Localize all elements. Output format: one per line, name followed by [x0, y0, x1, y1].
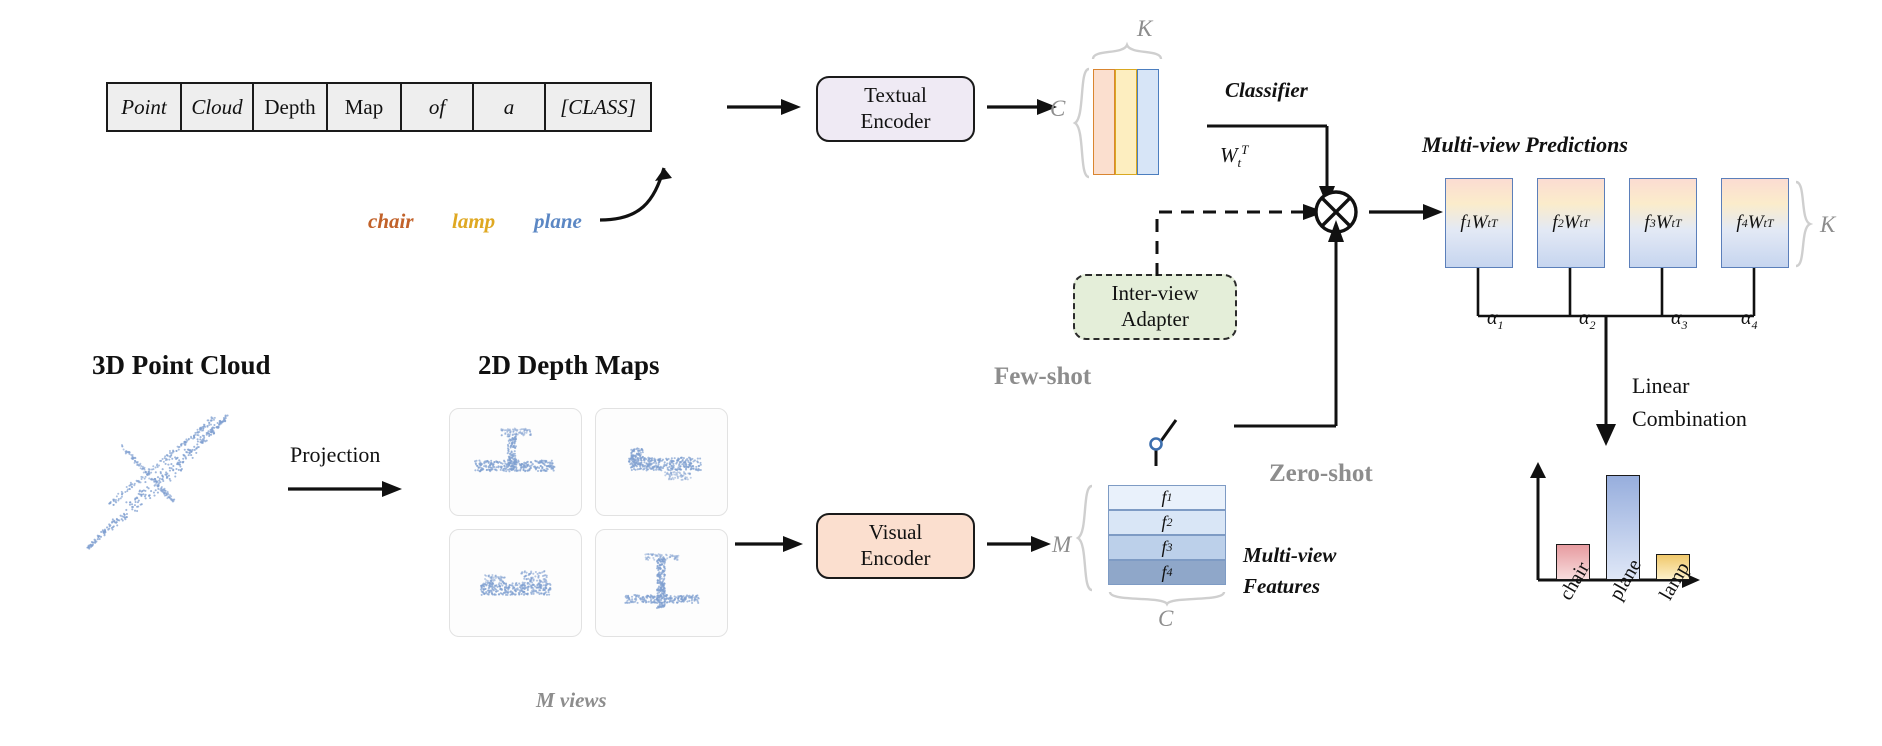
projection-label: Projection: [290, 442, 380, 468]
prompt-token-4: of: [402, 84, 474, 130]
prediction-4-w: W: [1748, 212, 1764, 234]
predictions-title: Multi-view Predictions: [1422, 132, 1628, 158]
depth-map-view-3[interactable]: [449, 529, 582, 637]
visual-encoder-label-line2: Encoder: [861, 546, 931, 572]
few-shot-label: Few-shot: [994, 363, 1091, 391]
prediction-2-wsup: T: [1583, 216, 1590, 231]
features-col-brace: [1108, 590, 1226, 606]
prediction-3-w: W: [1656, 212, 1672, 234]
prompt-token-5: a: [474, 84, 546, 130]
visual-encoder-box[interactable]: Visual Encoder: [816, 513, 975, 579]
features-row-brace: [1076, 484, 1094, 592]
classifier-matrix: [1093, 69, 1159, 175]
views-caption: M views: [536, 688, 607, 713]
feature-row-2: f2: [1108, 510, 1226, 535]
arrow-projection: [288, 478, 404, 500]
alpha-4-sub: 4: [1752, 318, 1758, 332]
class-word-lamp: lamp: [452, 209, 495, 234]
feature-4-sub: 4: [1167, 565, 1173, 580]
prediction-box-3: f3WtT: [1629, 178, 1697, 268]
predictions-dim-label: K: [1820, 212, 1835, 238]
inter-view-adapter-label-line1: Inter-view: [1111, 281, 1198, 307]
alpha-4-base: α: [1741, 307, 1752, 329]
visual-encoder-label-line1: Visual: [869, 520, 923, 546]
feature-row-4: f4: [1108, 560, 1226, 585]
feature-row-3: f3: [1108, 535, 1226, 560]
classifier-col-dim-label: K: [1137, 16, 1152, 42]
prediction-box-2: f2WtT: [1537, 178, 1605, 268]
arrow-product-to-predictions: [1369, 201, 1445, 223]
prediction-4-wsup: T: [1767, 216, 1774, 231]
feature-row-1: f1: [1108, 485, 1226, 510]
prompt-token-1: Cloud: [182, 84, 254, 130]
features-col-dim-label: C: [1158, 606, 1173, 632]
zero-shot-path: [1200, 212, 1340, 432]
arrow-depthmaps-to-visual-encoder: [735, 533, 805, 555]
depth-maps-title: 2D Depth Maps: [478, 350, 660, 381]
prediction-3-wsup: T: [1675, 216, 1682, 231]
features-row-dim-label: M: [1052, 532, 1071, 558]
classifier-row-brace: [1073, 67, 1091, 179]
alpha-label-3: α3: [1671, 307, 1688, 333]
alpha-1-sub: 1: [1498, 318, 1504, 332]
prompt-token-0: Point: [108, 84, 182, 130]
zero-shot-label: Zero-shot: [1269, 460, 1373, 488]
alpha-3-sub: 3: [1682, 318, 1688, 332]
classifier-label: Classifier: [1225, 78, 1308, 103]
classifier-col-brace: [1091, 43, 1163, 61]
depth-map-view-1[interactable]: [449, 408, 582, 516]
prompt-template-table: Point Cloud Depth Map of a [CLASS]: [106, 82, 652, 132]
feature-2-sub: 2: [1167, 515, 1173, 530]
depth-map-grid: [449, 408, 728, 637]
class-word-plane: plane: [534, 209, 582, 234]
alpha-label-1: α1: [1487, 307, 1504, 333]
features-caption-line1: Multi-view: [1243, 543, 1336, 568]
linear-combination-label-line2: Combination: [1632, 406, 1747, 432]
textual-encoder-box[interactable]: Textual Encoder: [816, 76, 975, 142]
alpha-3-base: α: [1671, 307, 1682, 329]
prediction-box-row: f1WtT f2WtT f3WtT f4WtT: [1445, 178, 1789, 268]
feature-1-sub: 1: [1167, 490, 1173, 505]
inter-view-adapter-label-line2: Adapter: [1121, 307, 1189, 333]
classifier-row-dim-label: C: [1050, 96, 1065, 122]
class-word-chair: chair: [368, 209, 414, 234]
prompt-token-3: Map: [328, 84, 402, 130]
prediction-1-w: W: [1472, 212, 1488, 234]
alpha-label-4: α4: [1741, 307, 1758, 333]
textual-encoder-label-line1: Textual: [864, 83, 927, 109]
prediction-box-1: f1WtT: [1445, 178, 1513, 268]
classifier-column-chair: [1093, 69, 1115, 175]
features-caption-line2: Features: [1243, 574, 1320, 599]
multi-view-feature-stack: f1 f2 f3 f4: [1108, 485, 1226, 585]
alpha-1-base: α: [1487, 307, 1498, 329]
point-cloud-visualization: [70, 400, 270, 560]
depth-map-view-4[interactable]: [595, 529, 728, 637]
prediction-1-wsup: T: [1491, 216, 1498, 231]
linear-combination-label-line1: Linear: [1632, 373, 1689, 399]
predictions-dim-brace: [1794, 180, 1812, 268]
depth-map-view-2[interactable]: [595, 408, 728, 516]
arrow-linear-combination: [1594, 316, 1618, 448]
prompt-token-class: [CLASS]: [546, 84, 650, 130]
arrow-visual-encoder-to-features: [987, 533, 1053, 555]
prediction-box-4: f4WtT: [1721, 178, 1789, 268]
classifier-column-plane: [1137, 69, 1159, 175]
branch-switch-icon[interactable]: [1142, 414, 1182, 470]
alpha-2-base: α: [1579, 307, 1590, 329]
class-substitution-arrow: [592, 150, 702, 230]
point-cloud-title: 3D Point Cloud: [92, 350, 271, 381]
arrow-textual-encoder-to-classifier: [987, 96, 1059, 118]
feature-3-sub: 3: [1167, 540, 1173, 555]
textual-encoder-label-line2: Encoder: [861, 109, 931, 135]
prompt-token-2: Depth: [254, 84, 328, 130]
classifier-column-lamp: [1115, 69, 1137, 175]
prediction-2-w: W: [1564, 212, 1580, 234]
arrow-prompt-to-textual-encoder: [727, 96, 803, 118]
